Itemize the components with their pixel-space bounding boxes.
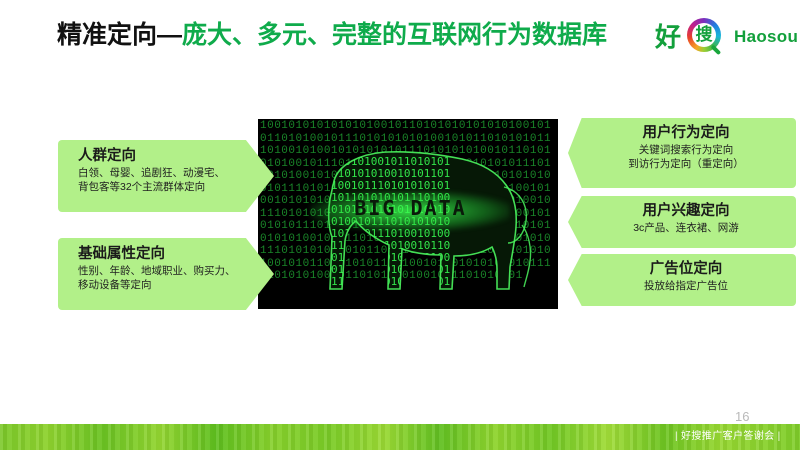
page-title-main: 精准定向	[57, 21, 157, 49]
callout-user-behavior-targeting[interactable]: 用户行为定向 关键词搜索行为定向 到访行为定向（重定向）	[568, 118, 796, 188]
svg-text:01010101110101010100101101: 01010101110101010100101101	[278, 275, 450, 288]
callout-basic-attribute-targeting[interactable]: 基础属性定向 性别、年龄、地域职业、购买力、 移动设备等定向	[58, 238, 274, 310]
svg-text:10101010010111010101010100: 10101010010111010101010100	[278, 251, 450, 264]
page-title-subtitle: 庞大、多元、完整的互联网行为数据库	[182, 21, 607, 49]
svg-text:01010100101110101010101001: 01010100101110101010101001	[278, 287, 450, 300]
callout-adslot-title: 广告位定向	[588, 260, 784, 279]
callout-behavior-line-1: 关键词搜索行为定向	[588, 143, 784, 157]
magnifier-ring-icon: 搜	[687, 18, 727, 58]
svg-text:10101101010101110100101001: 10101101010101110100101001	[278, 263, 450, 276]
page-title: 精准定向—庞大、多元、完整的互联网行为数据库	[57, 18, 607, 52]
callout-crowd-line-1: 白领、母婴、追剧狂、动漫宅、	[78, 166, 274, 180]
page-number: 16	[735, 409, 749, 425]
callout-basic-title: 基础属性定向	[78, 245, 274, 264]
footer-bar-left: |	[672, 431, 681, 442]
footer-bar-right: |	[775, 431, 784, 442]
logo-wordmark: Haosou	[734, 26, 798, 48]
callout-behavior-line-2: 到访行为定向（重定向）	[588, 157, 784, 171]
callout-basic-line-2: 移动设备等定向	[78, 278, 274, 292]
callout-user-interest-targeting[interactable]: 用户兴趣定向 3c产品、连衣裙、网游	[568, 196, 796, 248]
callout-crowd-targeting[interactable]: 人群定向 白领、母婴、追剧狂、动漫宅、 背包客等32个主流群体定向	[58, 140, 274, 212]
magnifier-handle-icon	[711, 45, 722, 56]
callout-ad-slot-targeting[interactable]: 广告位定向 投放给指定广告位	[568, 254, 796, 306]
page-title-dash: —	[157, 21, 182, 49]
haosou-logo: 好 搜 Haosou	[655, 14, 795, 68]
callout-interest-title: 用户兴趣定向	[588, 202, 784, 221]
slide-header: 精准定向—庞大、多元、完整的互联网行为数据库 好 搜 Haosou	[0, 0, 800, 80]
big-data-label: BIG DATA	[318, 194, 503, 222]
logo-char-hao: 好	[655, 22, 681, 52]
callout-interest-line-1: 3c产品、连衣裙、网游	[588, 221, 784, 235]
logo-char-sou: 搜	[694, 24, 714, 46]
callout-adslot-line-1: 投放给指定广告位	[588, 279, 784, 293]
big-data-elephant-image: 1001010101010101001011010101010101010010…	[258, 119, 558, 309]
callout-crowd-line-2: 背包客等32个主流群体定向	[78, 180, 274, 194]
slide-root: 精准定向—庞大、多元、完整的互联网行为数据库 好 搜 Haosou 100101…	[0, 0, 800, 450]
footer-caption-text: 好搜推广客户答谢会	[681, 431, 775, 442]
callout-behavior-title: 用户行为定向	[588, 124, 784, 143]
callout-crowd-title: 人群定向	[78, 147, 274, 166]
footer-caption: |好搜推广客户答谢会|	[672, 429, 784, 445]
callout-basic-line-1: 性别、年龄、地域职业、购买力、	[78, 264, 274, 278]
